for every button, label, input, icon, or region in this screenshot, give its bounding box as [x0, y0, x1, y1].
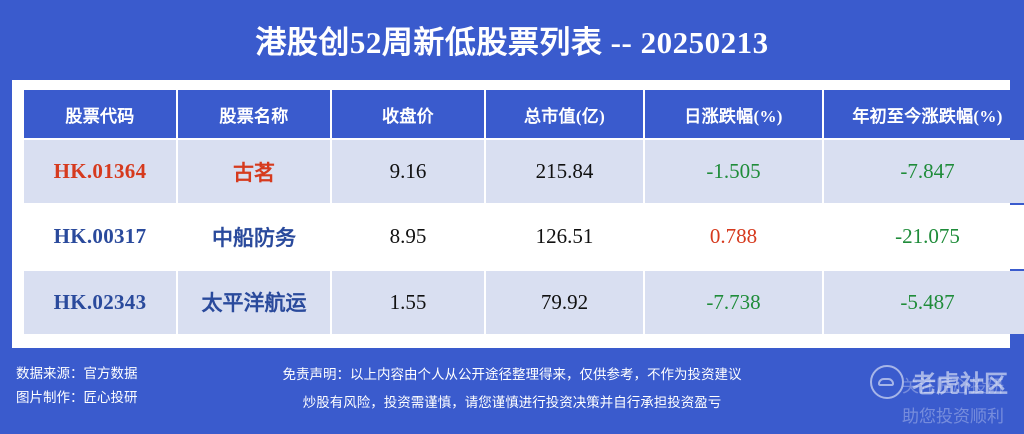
cell-stock-code: HK.00317: [24, 205, 176, 268]
cell-day-change: -7.738: [645, 271, 822, 334]
cell-market-cap: 215.84: [486, 140, 643, 203]
watermark: 老虎社区: [870, 364, 1008, 399]
cell-stock-name: 古茗: [178, 140, 330, 203]
cell-close-price: 8.95: [332, 205, 484, 268]
cell-market-cap: 79.92: [486, 271, 643, 334]
footer: 数据来源：官方数据 图片制作：匠心投研 免责声明：以上内容由个人从公开途径整理得…: [0, 350, 1024, 434]
cell-ytd-change: -21.075: [824, 205, 1024, 268]
cell-day-change: -1.505: [645, 140, 822, 203]
cell-stock-name: 太平洋航运: [178, 271, 330, 334]
stock-table: 股票代码 股票名称 收盘价 总市值(亿) 日涨跌幅(%) 年初至今涨跌幅(%) …: [22, 88, 1024, 336]
cell-day-change: 0.788: [645, 205, 822, 268]
table-header-row: 股票代码 股票名称 收盘价 总市值(亿) 日涨跌幅(%) 年初至今涨跌幅(%): [24, 90, 1024, 138]
watermark-brand: 老虎社区: [912, 364, 1008, 399]
column-header-name: 股票名称: [178, 90, 330, 138]
column-header-close: 收盘价: [332, 90, 484, 138]
table-panel: 股票代码 股票名称 收盘价 总市值(亿) 日涨跌幅(%) 年初至今涨跌幅(%) …: [12, 80, 1010, 348]
table-row[interactable]: HK.02343 太平洋航运 1.55 79.92 -7.738 -5.487: [24, 271, 1024, 334]
table-body: HK.01364 古茗 9.16 215.84 -1.505 -7.847 HK…: [24, 140, 1024, 334]
cell-close-price: 1.55: [332, 271, 484, 334]
title-bar: 港股创52周新低股票列表 -- 20250213: [0, 0, 1024, 78]
cell-close-price: 9.16: [332, 140, 484, 203]
cell-ytd-change: -7.847: [824, 140, 1024, 203]
column-header-code: 股票代码: [24, 90, 176, 138]
table-header: 股票代码 股票名称 收盘价 总市值(亿) 日涨跌幅(%) 年初至今涨跌幅(%): [24, 90, 1024, 138]
column-header-day-change: 日涨跌幅(%): [645, 90, 822, 138]
cell-stock-name: 中船防务: [178, 205, 330, 268]
cell-stock-code: HK.01364: [24, 140, 176, 203]
page-title: 港股创52周新低股票列表 -- 20250213: [255, 17, 768, 62]
cell-stock-code: HK.02343: [24, 271, 176, 334]
column-header-ytd-change: 年初至今涨跌幅(%): [824, 90, 1024, 138]
table-row[interactable]: HK.01364 古茗 9.16 215.84 -1.505 -7.847: [24, 140, 1024, 203]
cell-ytd-change: -5.487: [824, 271, 1024, 334]
table-row[interactable]: HK.00317 中船防务 8.95 126.51 0.788 -21.075: [24, 205, 1024, 268]
tiger-logo-icon: [870, 365, 904, 399]
cell-market-cap: 126.51: [486, 205, 643, 268]
column-header-market-cap: 总市值(亿): [486, 90, 643, 138]
